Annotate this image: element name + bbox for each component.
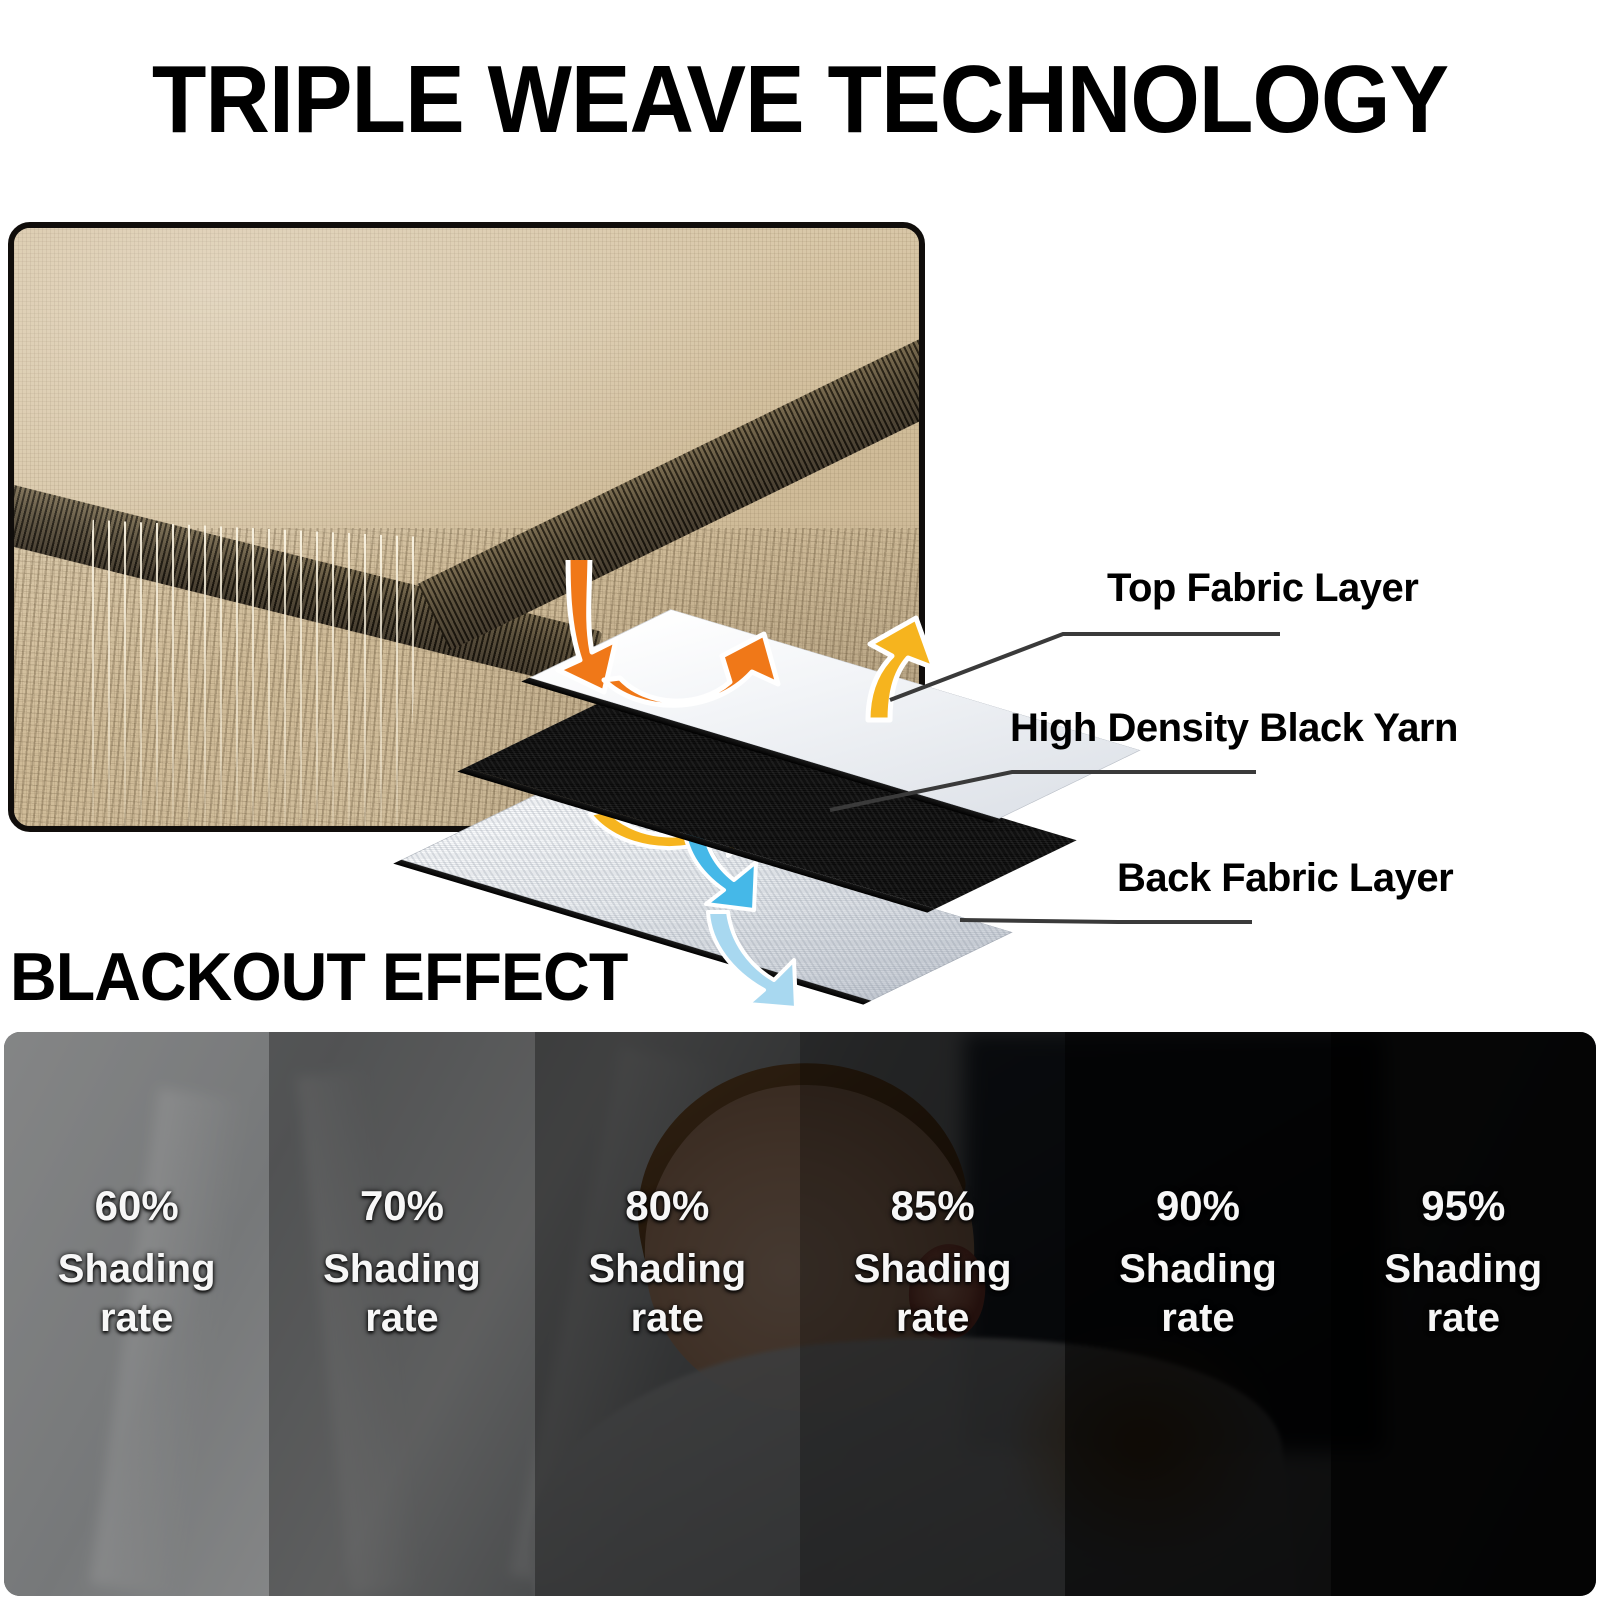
shading-percent-60: 60%: [58, 1180, 216, 1231]
blackout-effect-heading: BLACKOUT EFFECT: [10, 938, 627, 1016]
shading-label-line2: rate: [1384, 1294, 1542, 1343]
shading-percent-80: 80%: [588, 1180, 746, 1231]
shading-percent-90: 90%: [1119, 1180, 1277, 1231]
label-top-fabric-layer: Top Fabric Layer: [1107, 566, 1418, 611]
shading-percent-70: 70%: [323, 1180, 481, 1231]
shading-label-line2: rate: [588, 1294, 746, 1343]
label-back-fabric-layer: Back Fabric Layer: [1117, 856, 1453, 901]
shading-label-line2: rate: [854, 1294, 1012, 1343]
shading-panel-70: 70% Shading rate: [269, 1032, 534, 1596]
blackout-effect-strip: 60% Shading rate 70% Shading rate 80% Sh…: [4, 1032, 1596, 1596]
shading-label-line1: Shading: [1384, 1245, 1542, 1294]
shading-label-line2: rate: [58, 1294, 216, 1343]
shading-label-line2: rate: [323, 1294, 481, 1343]
shading-label-line2: rate: [1119, 1294, 1277, 1343]
page-title: TRIPLE WEAVE TECHNOLOGY: [56, 52, 1544, 148]
shading-label-line1: Shading: [1119, 1245, 1277, 1294]
shading-panel-90: 90% Shading rate: [1065, 1032, 1330, 1596]
shading-percent-85: 85%: [854, 1180, 1012, 1231]
shading-panel-80: 80% Shading rate: [535, 1032, 800, 1596]
shading-panel-95: 95% Shading rate: [1331, 1032, 1596, 1596]
shading-panel-60: 60% Shading rate: [4, 1032, 269, 1596]
shading-percent-95: 95%: [1384, 1180, 1542, 1231]
shading-label-line1: Shading: [588, 1245, 746, 1294]
label-high-density-black-yarn: High Density Black Yarn: [1010, 706, 1458, 751]
shading-label-line1: Shading: [323, 1245, 481, 1294]
shading-label-line1: Shading: [854, 1245, 1012, 1294]
shading-label-line1: Shading: [58, 1245, 216, 1294]
shading-panel-85: 85% Shading rate: [800, 1032, 1065, 1596]
